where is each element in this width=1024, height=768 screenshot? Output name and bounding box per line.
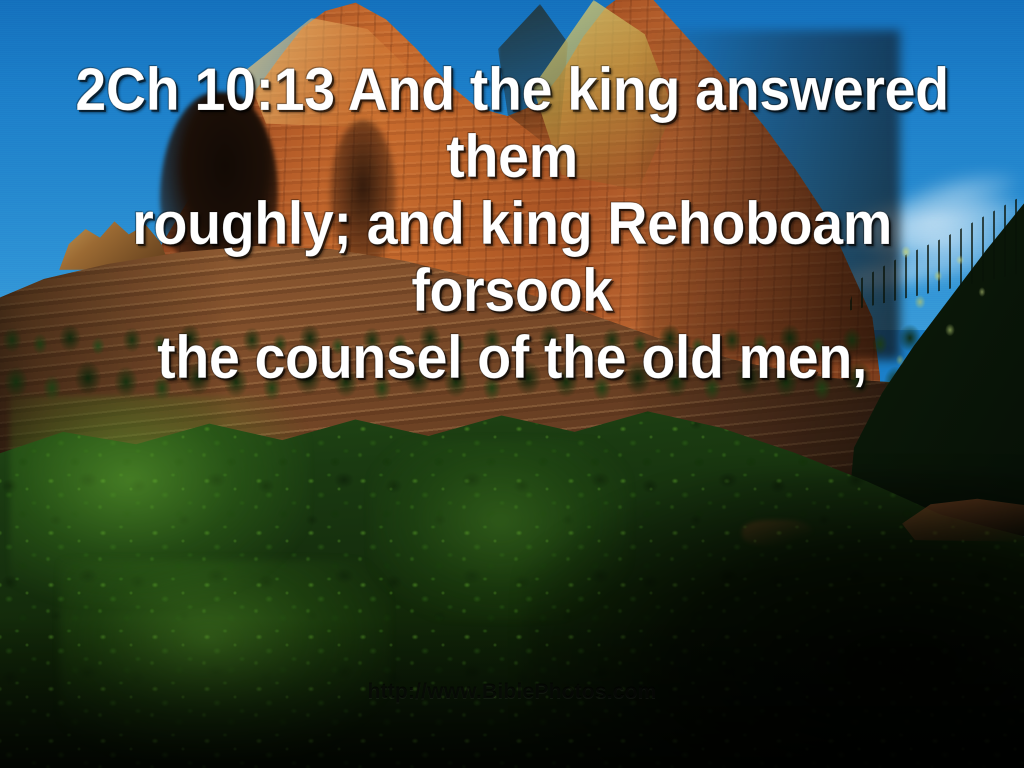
bible-verse-photo: 2Ch 10:13 And the king answered them rou… [0, 0, 1024, 768]
watermark-url: http://www.BiblePhotos.com [0, 680, 1024, 704]
verse-text: 2Ch 10:13 And the king answered them rou… [36, 56, 988, 391]
